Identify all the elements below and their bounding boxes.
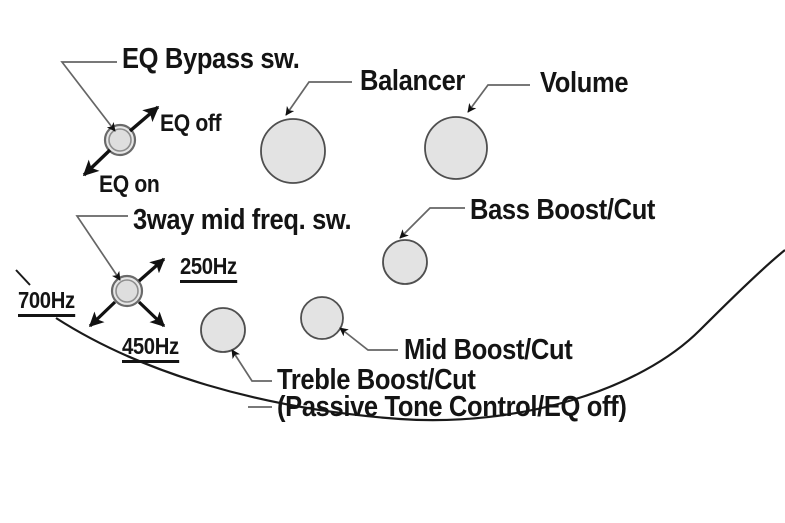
- bass-knob[interactable]: [383, 240, 427, 284]
- freq-250-arrow: [139, 259, 164, 281]
- label-bass: Bass Boost/Cut: [470, 194, 655, 227]
- volume-leader: [468, 85, 530, 112]
- label-eq-bypass: EQ Bypass sw.: [122, 43, 299, 76]
- volume-knob[interactable]: [425, 117, 487, 179]
- label-three-way: 3way mid freq. sw.: [133, 204, 351, 237]
- label-freq-250: 250Hz: [180, 253, 237, 283]
- mid-freq-switch[interactable]: [112, 276, 142, 306]
- treble-leader: [232, 350, 272, 381]
- label-volume: Volume: [540, 67, 628, 100]
- eq-bypass-leader: [62, 62, 117, 131]
- mid-freq-leader: [77, 216, 128, 280]
- label-eq-off: EQ off: [160, 110, 221, 138]
- diagram-canvas: EQ Bypass sw. EQ off EQ on Balancer Volu…: [0, 0, 785, 523]
- balancer-leader: [286, 82, 352, 115]
- label-eq-on: EQ on: [99, 171, 159, 199]
- label-balancer: Balancer: [360, 65, 465, 98]
- bass-leader: [400, 208, 465, 238]
- label-mid: Mid Boost/Cut: [404, 334, 572, 367]
- eq-off-arrow: [130, 107, 158, 131]
- mid-leader: [340, 328, 398, 350]
- freq-700-arrow: [90, 302, 115, 326]
- freq-450-arrow: [139, 302, 164, 326]
- label-freq-700: 700Hz: [18, 287, 75, 317]
- label-freq-450: 450Hz: [122, 333, 179, 363]
- balancer-knob[interactable]: [261, 119, 325, 183]
- mid-knob[interactable]: [301, 297, 343, 339]
- label-passive-note: (Passive Tone Control/EQ off): [277, 391, 626, 424]
- treble-knob[interactable]: [201, 308, 245, 352]
